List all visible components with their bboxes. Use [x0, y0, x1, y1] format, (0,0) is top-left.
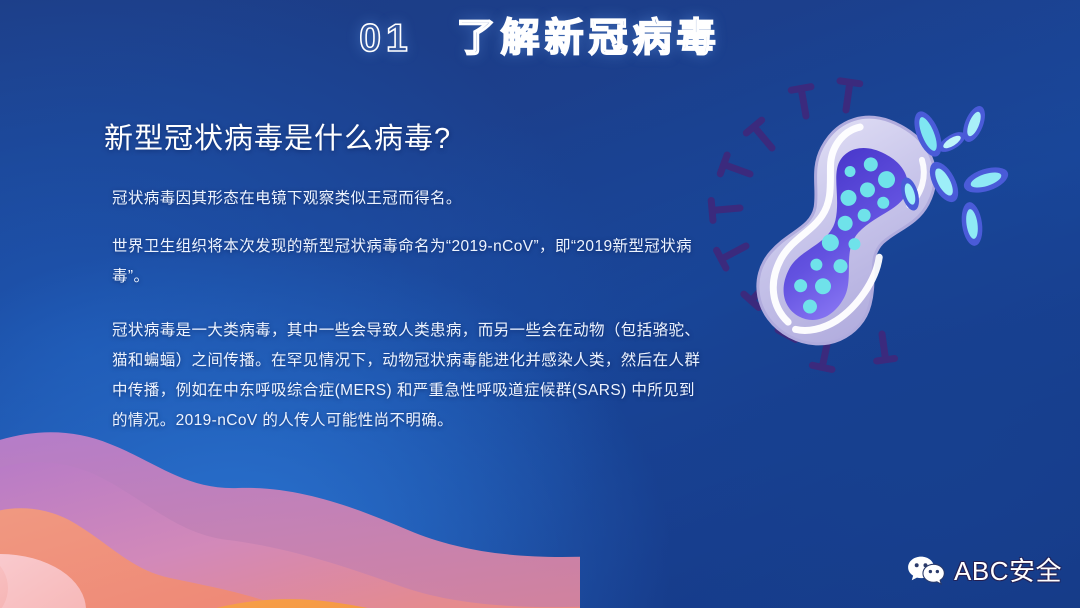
watermark-label: ABC安全 [954, 557, 1062, 585]
paragraph-transmission: 冠状病毒是一大类病毒，其中一些会导致人类患病，而另一些会在动物（包括骆驼、猫和蝙… [112, 316, 710, 436]
slide-root: 01 了解新冠病毒 新型冠状病毒是什么病毒? 冠状病毒因其形态在电镜下观察类似王… [0, 0, 1080, 608]
virus-particles [912, 98, 1072, 248]
watermark: ABC安全 [906, 554, 1062, 588]
paragraph-definition: 冠状病毒因其形态在电镜下观察类似王冠而得名。 [112, 184, 704, 214]
section-heading: 新型冠状病毒是什么病毒? [104, 118, 704, 160]
content-column: 新型冠状病毒是什么病毒? 冠状病毒因其形态在电镜下观察类似王冠而得名。 世界卫生… [104, 118, 704, 454]
paragraph-naming: 世界卫生组织将本次发现的新型冠状病毒命名为“2019-nCoV”，即“2019新… [112, 232, 704, 292]
page-title: 01 了解新冠病毒 [0, 12, 1080, 66]
wechat-icon [906, 554, 946, 588]
